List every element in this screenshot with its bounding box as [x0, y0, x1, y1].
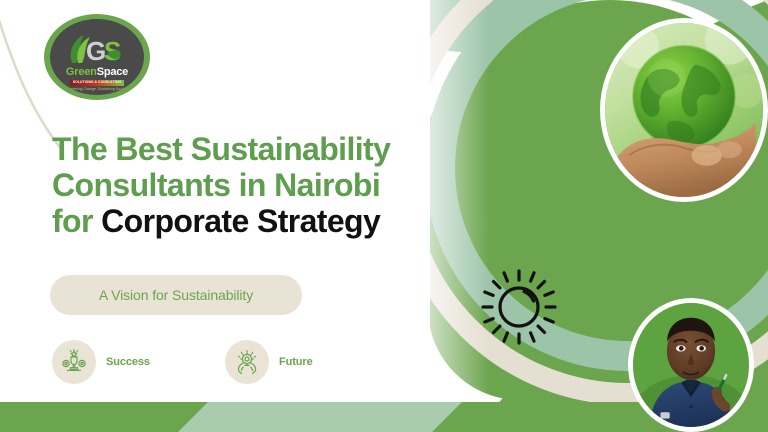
- subtitle-text: A Vision for Sustainability: [99, 287, 253, 303]
- logo-word-green: Green: [66, 66, 97, 78]
- feature-label-success: Success: [106, 356, 150, 368]
- subtitle-pill: A Vision for Sustainability: [50, 275, 302, 315]
- consultant-portrait-photo: [633, 303, 749, 427]
- globe-photo: [600, 18, 768, 202]
- feature-label-future: Future: [279, 356, 313, 368]
- feature-success: Success: [52, 340, 150, 384]
- feature-icon-circle: [225, 340, 269, 384]
- portrait-photo: [628, 298, 754, 432]
- logo-subtitle-bar: SOLUTIONS & CONSULTING: [70, 80, 124, 86]
- logo-subtitle-text: SOLUTIONS & CONSULTING: [73, 81, 121, 84]
- bottom-bar-accent: [178, 402, 462, 432]
- feature-future: Future: [225, 340, 313, 384]
- logo-inner-disc: G S GreenSpace SOLUTIONS & CONSULTING En…: [50, 19, 144, 95]
- headline-line-2: Consultants in Nairobi: [52, 167, 482, 203]
- headline-line-3: for Corporate Strategy: [52, 203, 482, 239]
- sun-icon: [478, 266, 560, 348]
- feature-icon-circle: [52, 340, 96, 384]
- hands-lightbulb-icon: [233, 348, 261, 376]
- headline-line-3-prefix: for: [52, 203, 101, 239]
- logo-wordmark: GreenSpace: [50, 67, 144, 78]
- logo-word-white: Space: [97, 66, 128, 78]
- hand-holding-green-globe-photo: [605, 23, 763, 197]
- logo-tagline: Engineering Change, Sustaining Solutions: [50, 88, 144, 91]
- headline-block: The Best Sustainability Consultants in N…: [52, 131, 482, 239]
- gs-monogram-icon: G S: [66, 33, 128, 67]
- promotional-banner: G S GreenSpace SOLUTIONS & CONSULTING En…: [0, 0, 768, 432]
- trophy-gears-icon: [60, 348, 88, 376]
- headline-line-1: The Best Sustainability: [52, 131, 482, 167]
- headline-line-3-accent: Corporate Strategy: [101, 203, 380, 239]
- brand-logo[interactable]: G S GreenSpace SOLUTIONS & CONSULTING En…: [44, 14, 150, 100]
